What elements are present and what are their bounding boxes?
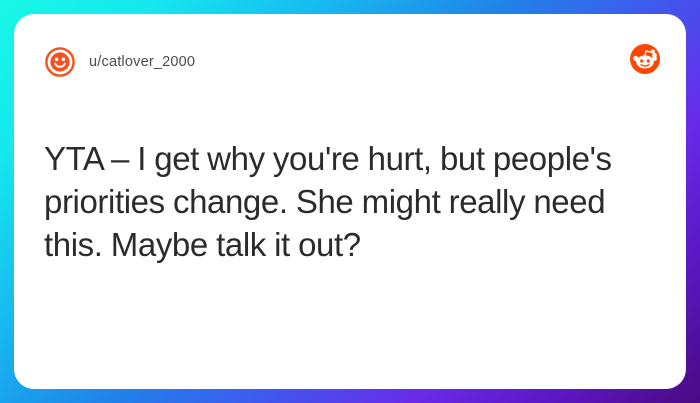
reddit-quote-card: u/catlover_2000 YTA – I get why you're h…: [14, 14, 686, 389]
post-body-text: YTA – I get why you're hurt, but people'…: [44, 137, 656, 266]
username-label: u/catlover_2000: [89, 54, 195, 70]
card-header: u/catlover_2000: [44, 40, 656, 84]
gradient-background: u/catlover_2000 YTA – I get why you're h…: [0, 0, 700, 403]
reddit-snoo-icon: [630, 44, 660, 74]
smiley-face-icon: [44, 46, 76, 78]
